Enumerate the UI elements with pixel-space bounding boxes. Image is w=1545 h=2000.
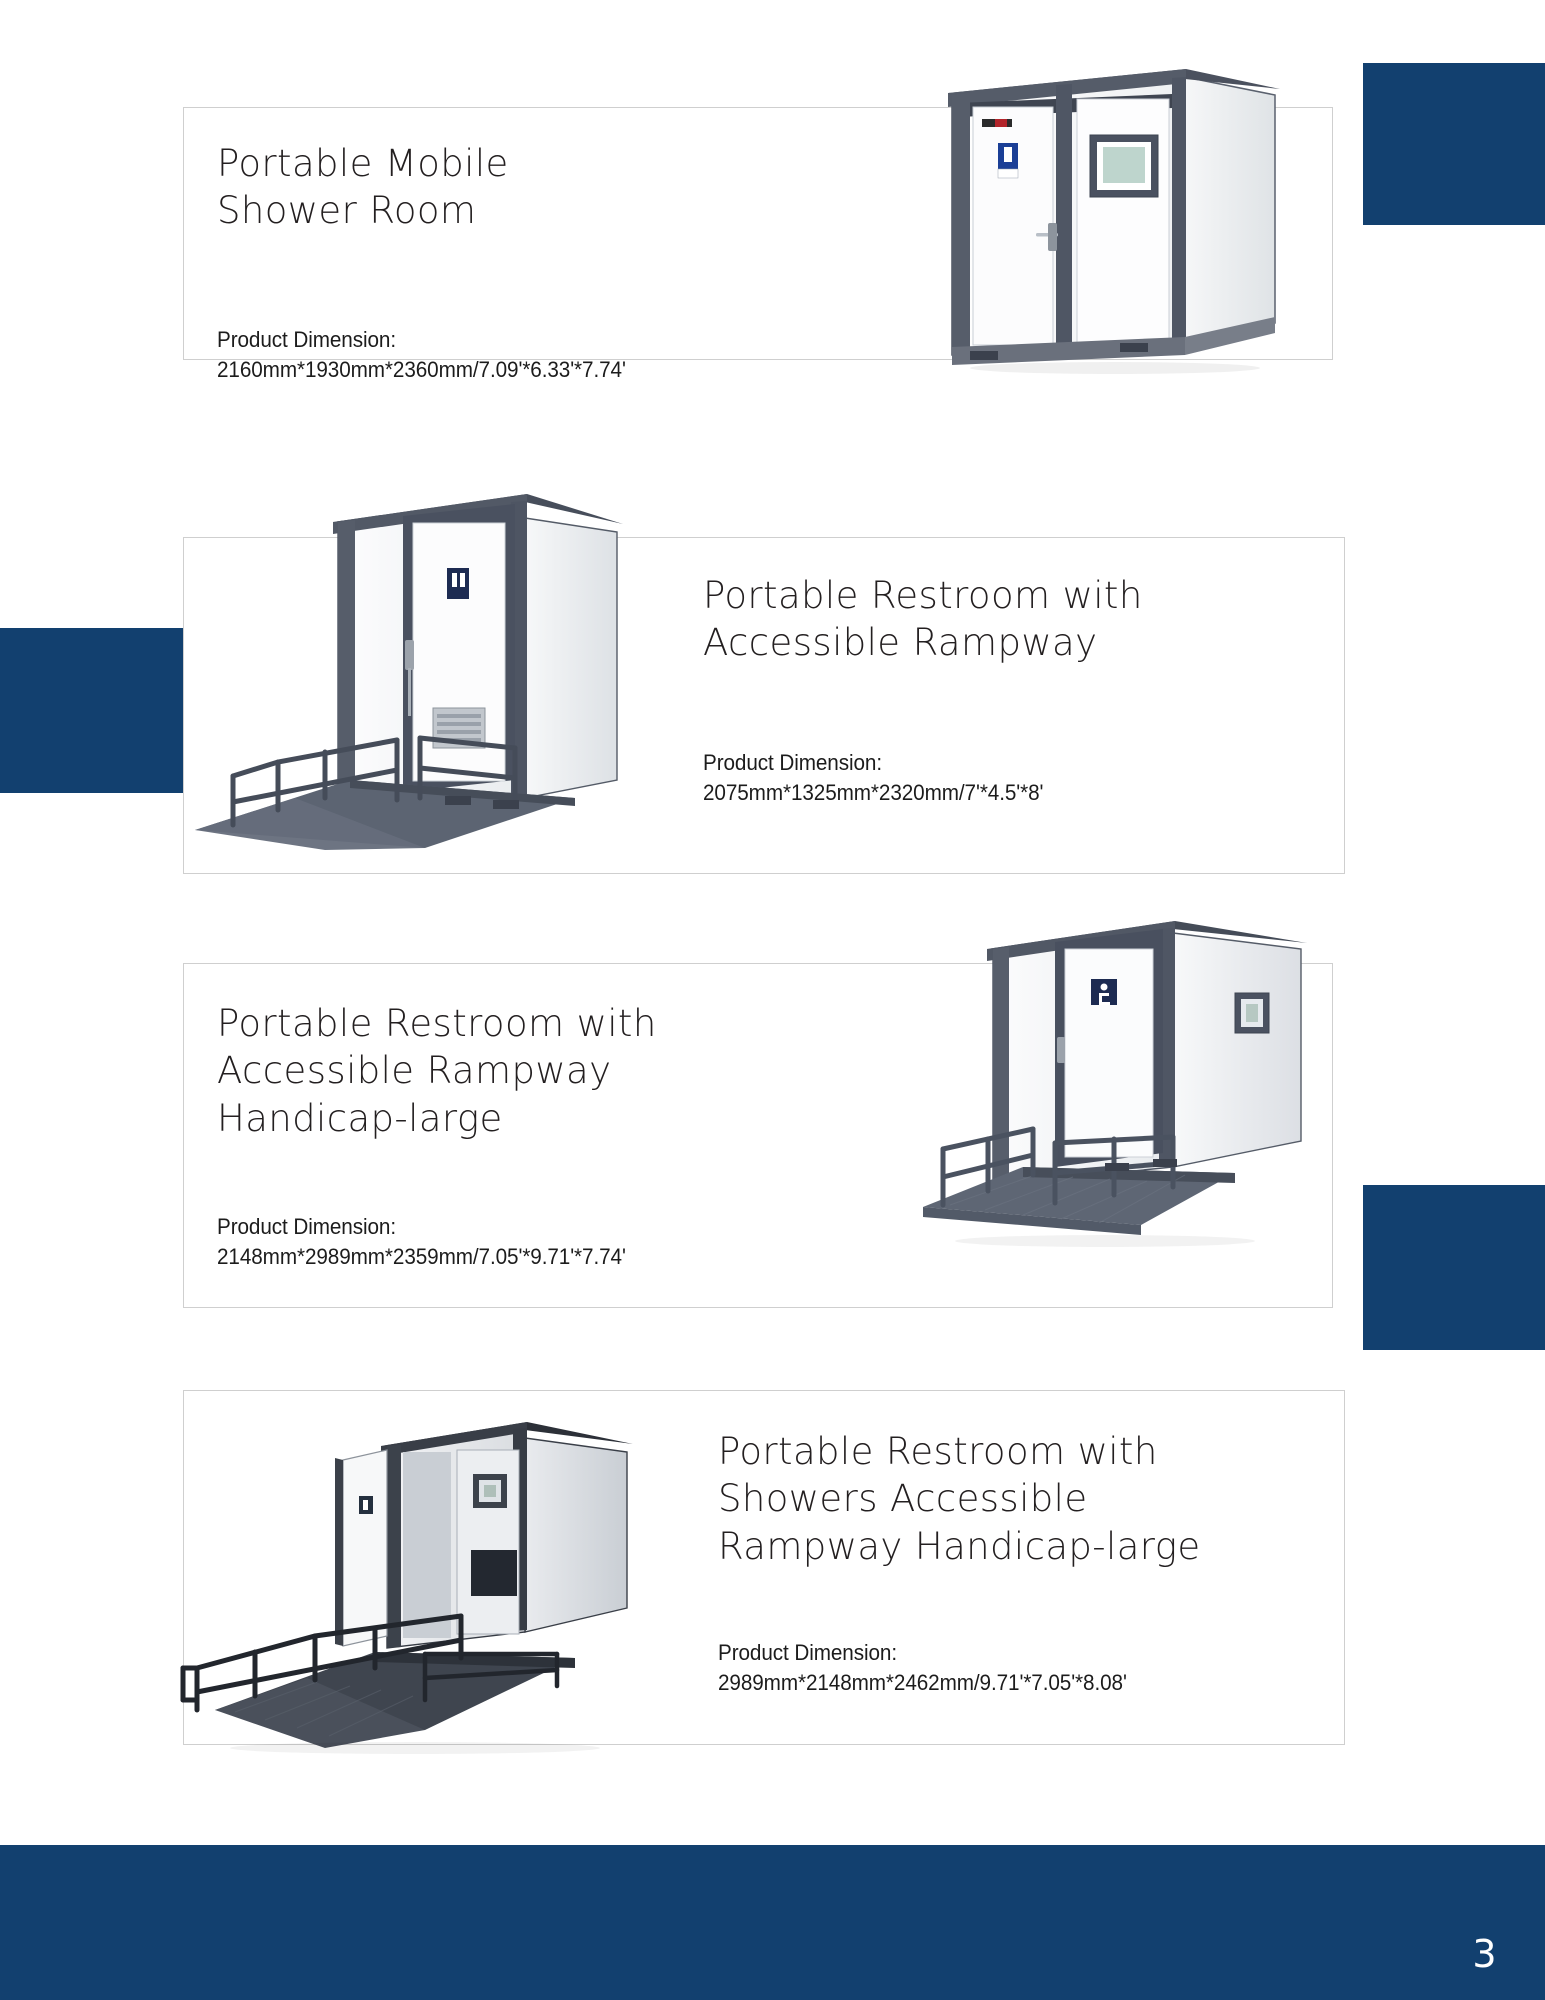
- dimension-label: Product Dimension:: [703, 748, 1329, 778]
- product-image-restroom-handicap-large: [905, 905, 1325, 1305]
- accent-block-left-middle: [0, 628, 183, 793]
- product-dimension: Product Dimension: 2075mm*1325mm*2320mm/…: [703, 748, 1329, 809]
- product-title: Portable Restroom with Accessible Rampwa…: [217, 1000, 837, 1142]
- footer-bar: 3: [0, 1845, 1545, 2000]
- product-dimension: Product Dimension: 2148mm*2989mm*2359mm/…: [217, 1212, 843, 1273]
- catalog-page: Portable Mobile Shower Room Product Dime…: [0, 0, 1545, 2000]
- page-number: 3: [1472, 1932, 1497, 1976]
- product-title-line: Portable Restroom with: [703, 572, 1343, 619]
- product-title-line: Accessible Rampway: [217, 1047, 837, 1094]
- dimension-value: 2075mm*1325mm*2320mm/7'*4.5'*8': [703, 778, 1329, 808]
- dimension-label: Product Dimension:: [217, 325, 843, 355]
- accent-block-right-middle: [1363, 1185, 1545, 1350]
- dimension-value: 2148mm*2989mm*2359mm/7.05'*9.71'*7.74': [217, 1242, 843, 1272]
- dimension-label: Product Dimension:: [217, 1212, 843, 1242]
- product-title-line: Portable Restroom with: [217, 1000, 837, 1047]
- product-title: Portable Restroom with Showers Accessibl…: [718, 1428, 1378, 1570]
- accent-block-top-right: [1363, 63, 1545, 225]
- product-title-line: Handicap-large: [217, 1095, 837, 1142]
- product-dimension: Product Dimension: 2160mm*1930mm*2360mm/…: [217, 325, 843, 386]
- dimension-value: 2989mm*2148mm*2462mm/9.71'*7.05'*8.08': [718, 1668, 1344, 1698]
- product-title-line: Shower Room: [217, 187, 837, 234]
- product-title: Portable Mobile Shower Room: [217, 140, 837, 235]
- product-image-restroom-ramp: [175, 480, 635, 850]
- product-image-restroom-showers-handicap-large: [175, 1400, 695, 1760]
- product-title-line: Portable Restroom with: [718, 1428, 1378, 1475]
- product-title: Portable Restroom with Accessible Rampwa…: [703, 572, 1343, 667]
- product-title-line: Accessible Rampway: [703, 619, 1343, 666]
- dimension-label: Product Dimension:: [718, 1638, 1344, 1668]
- product-title-line: Rampway Handicap-large: [718, 1523, 1378, 1570]
- product-title-line: Showers Accessible: [718, 1475, 1378, 1522]
- product-dimension: Product Dimension: 2989mm*2148mm*2462mm/…: [718, 1638, 1344, 1699]
- product-title-line: Portable Mobile: [217, 140, 837, 187]
- product-image-shower-room: [940, 55, 1285, 375]
- dimension-value: 2160mm*1930mm*2360mm/7.09'*6.33'*7.74': [217, 355, 843, 385]
